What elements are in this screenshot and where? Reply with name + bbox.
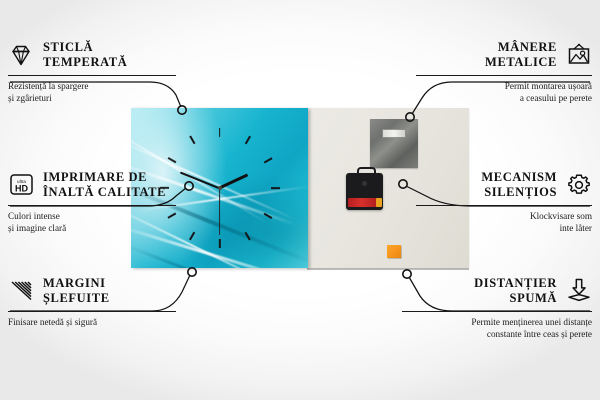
- feature-polished-edges: MARGINI ȘLEFUITE Finisare netedă și sigu…: [8, 276, 176, 328]
- feature-description: Permit montarea ușoară a ceasului pe per…: [416, 80, 592, 104]
- hour-marker: [263, 213, 272, 219]
- feature-title: STICLĂ TEMPERATĂ: [43, 40, 127, 70]
- feature-header: MARGINI ȘLEFUITE: [8, 276, 176, 306]
- hour-marker: [219, 128, 221, 137]
- feature-divider: [416, 205, 592, 206]
- feature-description: Finisare netedă și sigură: [8, 316, 176, 328]
- clock-second-hand: [219, 188, 220, 235]
- hour-marker: [189, 232, 195, 241]
- metal-hanger-part: [370, 119, 418, 168]
- hour-marker: [244, 232, 250, 241]
- feature-divider: [8, 205, 176, 206]
- feature-header: MECANISM SILENȚIOS: [416, 170, 592, 200]
- diagonal-lines-icon: [8, 278, 34, 304]
- feature-title: IMPRIMARE DE ÎNALTĂ CALITATE: [43, 170, 166, 200]
- clock-mechanism-part: [346, 173, 383, 210]
- hanger-slot: [382, 129, 406, 138]
- picture-frame-icon: [566, 42, 592, 68]
- hour-marker: [189, 136, 195, 145]
- foam-spacer-part: [387, 245, 401, 258]
- feature-silent-mechanism: MECANISM SILENȚIOS Klockvisare som inte …: [416, 170, 592, 234]
- feature-divider: [8, 75, 176, 76]
- down-arrow-stack-icon: [566, 278, 592, 304]
- diamond-icon: [8, 42, 34, 68]
- feature-header: MÂNERE METALICE: [416, 40, 592, 70]
- connector-node-polished-edges: [188, 268, 196, 276]
- feature-header: STICLĂ TEMPERATĂ: [8, 40, 176, 70]
- mechanism-hook: [357, 167, 376, 178]
- clock-hour-hand: [219, 173, 248, 189]
- mechanism-shaft: [362, 181, 367, 186]
- feature-title: DISTANȚIER SPUMĂ: [474, 276, 557, 306]
- feature-title: MÂNERE METALICE: [485, 40, 557, 70]
- feature-description: Rezistență la spargere și zgârieturi: [8, 80, 176, 104]
- product-infographic: STICLĂ TEMPERATĂ Rezistență la spargere …: [0, 0, 600, 400]
- feature-divider: [416, 75, 592, 76]
- feature-description: Culori intense și imagine clară: [8, 210, 176, 234]
- feature-title: MARGINI ȘLEFUITE: [43, 276, 110, 306]
- feature-metal-handles: MÂNERE METALICE Permit montarea ușoară a…: [416, 40, 592, 104]
- feature-tempered-glass: STICLĂ TEMPERATĂ Rezistență la spargere …: [8, 40, 176, 104]
- feature-description: Permite menținerea unei distanțe constan…: [402, 316, 592, 340]
- battery-terminal: [376, 198, 382, 207]
- gear-icon: [566, 172, 592, 198]
- feature-foam-spacer: DISTANȚIER SPUMĂ Permite menținerea unei…: [402, 276, 592, 340]
- ultra-hd-icon: ultra HD: [8, 172, 34, 198]
- clock-center-cap: [218, 186, 222, 190]
- hour-marker: [244, 136, 250, 145]
- feature-header: DISTANȚIER SPUMĂ: [402, 276, 592, 306]
- hour-marker: [219, 239, 221, 248]
- clock-minute-hand: [180, 171, 220, 189]
- hour-marker: [263, 157, 272, 163]
- feature-header: ultra HD IMPRIMARE DE ÎNALTĂ CALITATE: [8, 170, 176, 200]
- hour-marker: [271, 187, 280, 189]
- feature-description: Klockvisare som inte låter: [416, 210, 592, 234]
- feature-title: MECANISM SILENȚIOS: [481, 170, 557, 200]
- feature-hd-print: ultra HD IMPRIMARE DE ÎNALTĂ CALITATE Cu…: [8, 170, 176, 234]
- feature-divider: [8, 311, 176, 312]
- ultra-hd-icon-main-label: HD: [15, 184, 28, 194]
- hour-marker: [167, 157, 176, 163]
- feature-divider: [402, 311, 592, 312]
